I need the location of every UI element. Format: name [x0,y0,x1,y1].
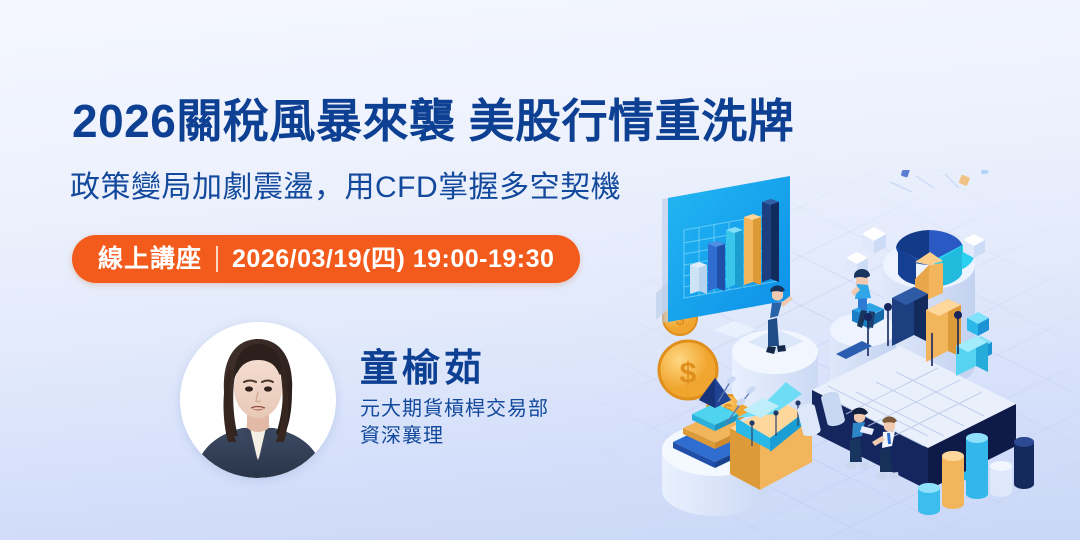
badge-datetime: 2026/03/19(四) 19:00-19:30 [232,247,554,272]
avatar [180,322,336,478]
speaker-details: 童榆茹 元大期貨槓桿交易部 資深襄理 [360,350,549,451]
cube-icon [862,227,886,254]
floating-particles [890,170,989,192]
isometric-illustration: $ $ $ [640,170,1080,540]
page-subtitle: 政策變局加劇震盪，用CFD掌握多空契機 [70,170,621,206]
speaker-name: 童榆茹 [360,350,549,390]
text-column: 2026關稅風暴來襲 美股行情重洗牌 政策變局加劇震盪，用CFD掌握多空契機 線… [0,0,660,540]
page-title: 2026關稅風暴來襲 美股行情重洗牌 [72,96,794,147]
speaker-block: 童榆茹 元大期貨槓桿交易部 資深襄理 [180,322,549,478]
monitor-bar-chart [656,176,790,338]
badge-divider [216,246,218,272]
svg-text:$: $ [680,357,697,390]
badge-tag-label: 線上講座 [98,247,202,272]
event-badge: 線上講座 2026/03/19(四) 19:00-19:30 [72,235,580,283]
webinar-banner: 2026關稅風暴來襲 美股行情重洗牌 政策變局加劇震盪，用CFD掌握多空契機 線… [0,0,1080,540]
speaker-title: 資深襄理 [360,423,549,450]
speaker-organization: 元大期貨槓桿交易部 [360,396,549,423]
